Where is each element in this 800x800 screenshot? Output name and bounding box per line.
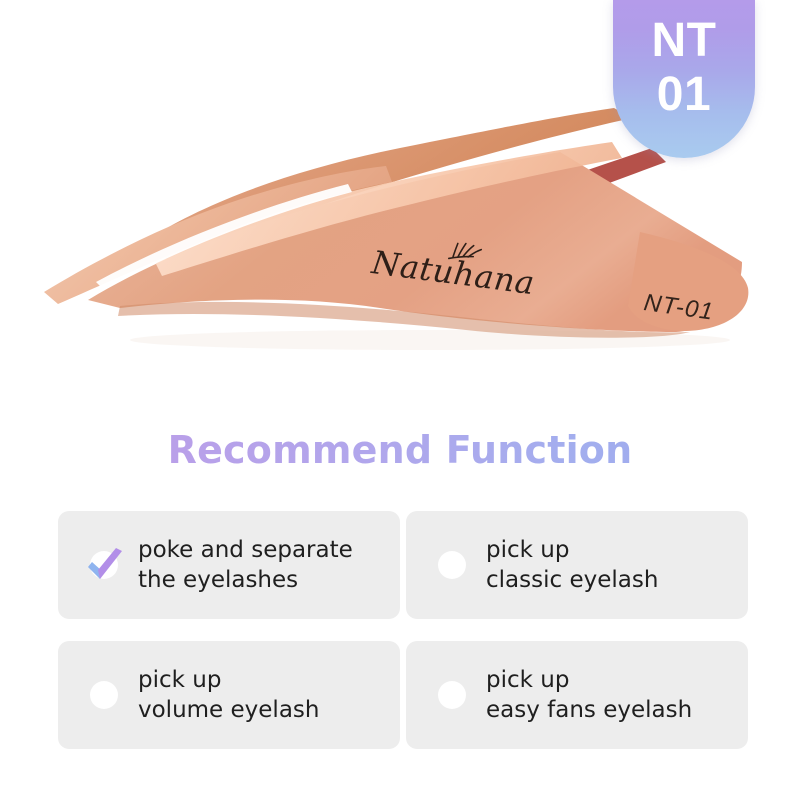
marker-dot <box>90 681 118 709</box>
radio-marker <box>84 675 124 715</box>
function-card-label: poke and separate the eyelashes <box>138 535 353 595</box>
radio-marker <box>432 675 472 715</box>
tweezer-handle-end <box>628 232 748 331</box>
model-badge: NT 01 <box>613 0 755 158</box>
function-card[interactable]: pick up classic eyelash <box>406 511 748 619</box>
recommend-function-grid: poke and separate the eyelashes pick up … <box>58 511 748 749</box>
checkmark-icon <box>82 541 130 589</box>
product-photo: Natuhana NT-01 NT 01 <box>0 0 800 410</box>
function-card-selected[interactable]: poke and separate the eyelashes <box>58 511 400 619</box>
check-marker <box>84 545 124 585</box>
marker-dot <box>438 681 466 709</box>
radio-marker <box>432 545 472 585</box>
function-card[interactable]: pick up easy fans eyelash <box>406 641 748 749</box>
model-badge-line-1: NT <box>652 14 717 68</box>
product-shadow <box>130 330 730 350</box>
function-card-label: pick up classic eyelash <box>486 535 658 595</box>
section-title: Recommend Function <box>0 428 800 472</box>
function-card[interactable]: pick up volume eyelash <box>58 641 400 749</box>
marker-dot <box>438 551 466 579</box>
function-card-label: pick up volume eyelash <box>138 665 319 725</box>
model-badge-line-2: 01 <box>657 68 711 122</box>
function-card-label: pick up easy fans eyelash <box>486 665 692 725</box>
